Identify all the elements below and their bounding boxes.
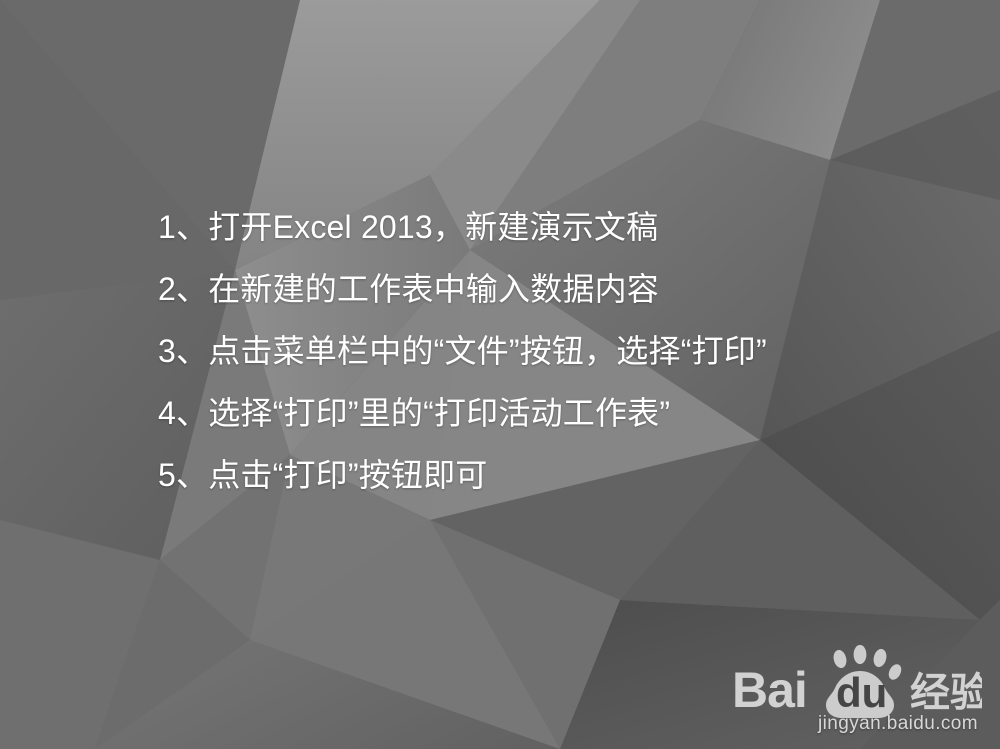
svg-text:Bai: Bai — [732, 662, 807, 718]
instruction-step-list: 1、打开Excel 2013，新建演示文稿 2、在新建的工作表中输入数据内容 3… — [158, 196, 958, 506]
svg-text:du: du — [836, 669, 887, 716]
baidu-wordmark-latin: Bai — [732, 662, 807, 718]
instruction-step-1: 1、打开Excel 2013，新建演示文稿 — [158, 196, 958, 258]
watermark-url: jingyan.baidu.com — [818, 713, 978, 735]
instruction-step-2: 2、在新建的工作表中输入数据内容 — [158, 258, 958, 320]
svg-text:经验: 经验 — [910, 670, 982, 716]
baidu-wordmark-du: du — [836, 669, 887, 716]
presentation-slide: 1、打开Excel 2013，新建演示文稿 2、在新建的工作表中输入数据内容 3… — [0, 0, 1000, 749]
instruction-step-5: 5、点击“打印”按钮即可 — [158, 444, 958, 506]
instruction-step-3: 3、点击菜单栏中的“文件”按钮，选择“打印” — [158, 320, 958, 382]
slide-content: 1、打开Excel 2013，新建演示文稿 2、在新建的工作表中输入数据内容 3… — [0, 0, 1000, 749]
jingyan-wordmark-cn: 经验 — [910, 670, 982, 716]
instruction-step-4: 4、选择“打印”里的“打印活动工作表” — [158, 382, 958, 444]
